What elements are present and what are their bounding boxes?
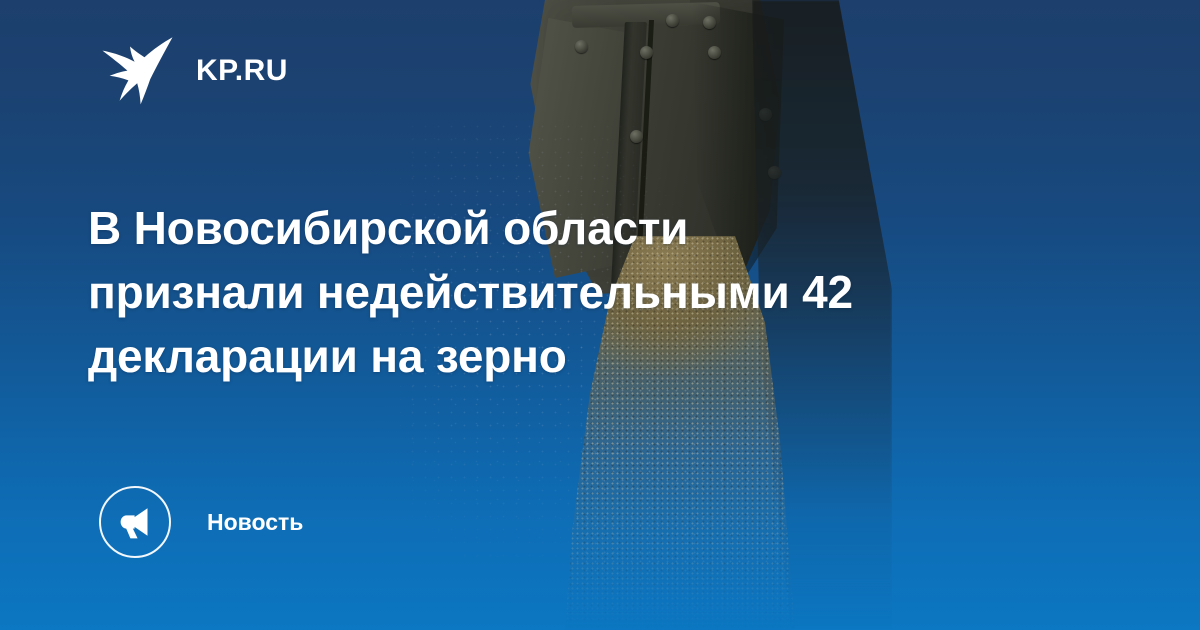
chute-bolt bbox=[666, 14, 679, 27]
news-share-card: KP.RU В Новосибирской области признали н… bbox=[0, 0, 1200, 630]
badge-circle bbox=[99, 486, 171, 558]
status-badge-label: Новость bbox=[207, 511, 303, 534]
chute-bolt bbox=[575, 40, 588, 53]
page-title: В Новосибирской области признали недейст… bbox=[88, 196, 1098, 388]
headline-line: признали недействительными 42 bbox=[88, 260, 1098, 324]
megaphone-icon bbox=[116, 503, 154, 541]
status-badge[interactable]: Новость bbox=[99, 486, 303, 558]
swallow-bird-icon bbox=[100, 36, 174, 106]
chute-bolt bbox=[703, 16, 716, 29]
chute-bolt bbox=[640, 46, 653, 59]
headline-line: декларации на зерно bbox=[88, 324, 1098, 388]
site-logo-text: KP.RU bbox=[196, 56, 288, 86]
headline-line: В Новосибирской области bbox=[88, 196, 1098, 260]
chute-bolt bbox=[708, 46, 721, 59]
site-logo[interactable]: KP.RU bbox=[100, 36, 288, 106]
